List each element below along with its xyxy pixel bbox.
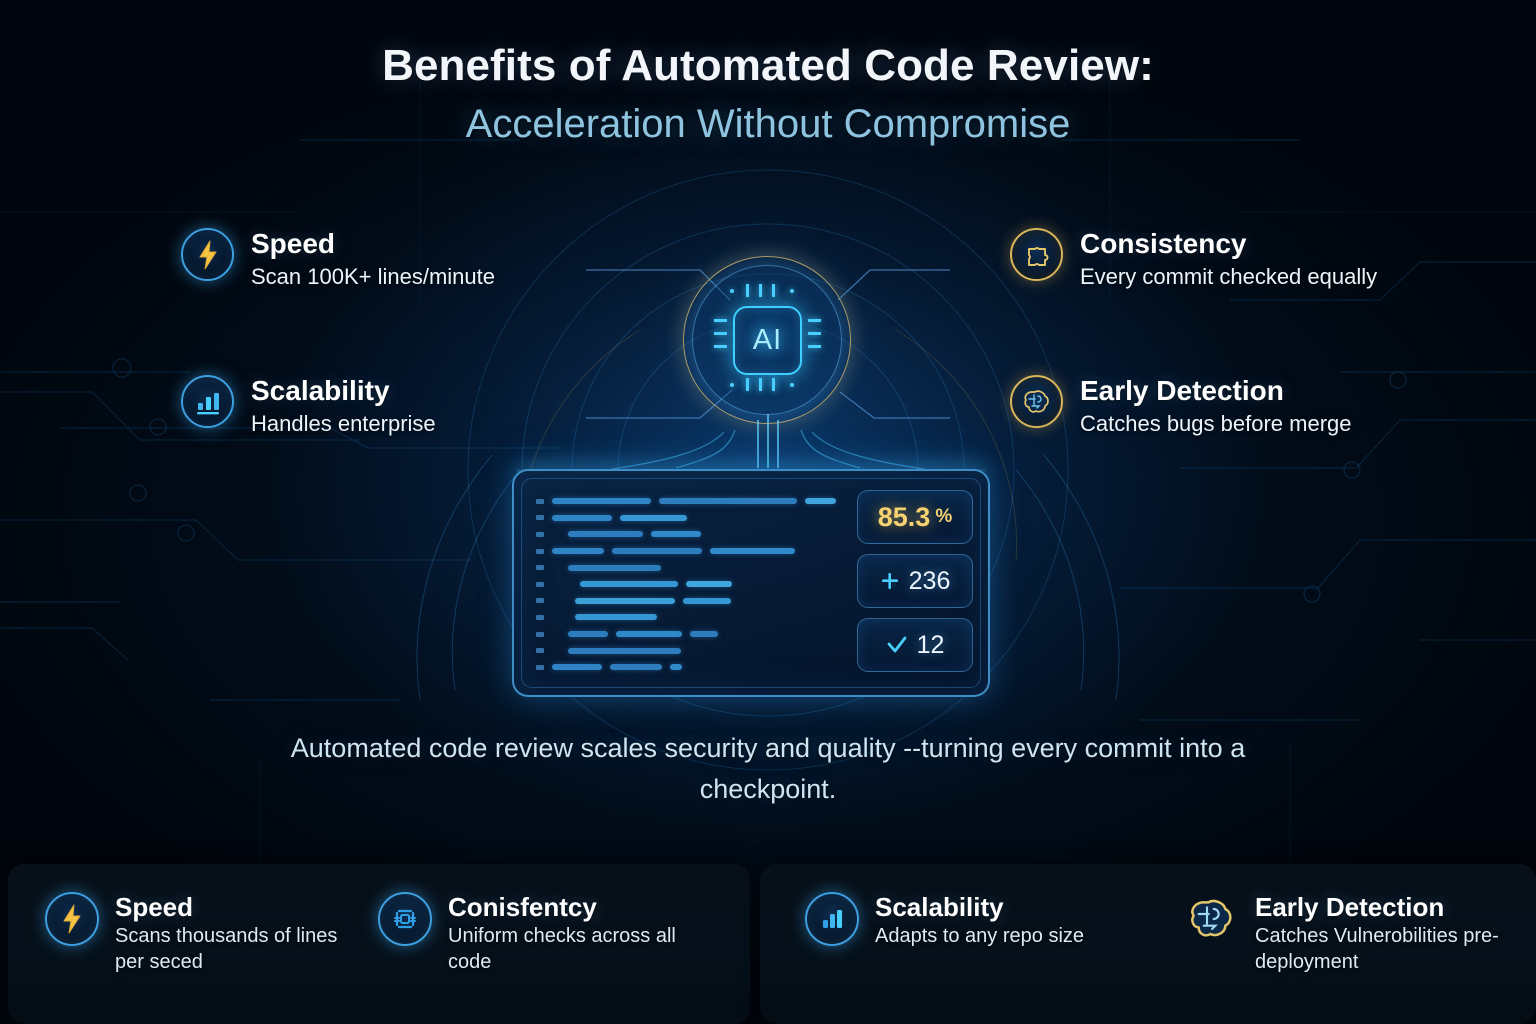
- stat-value: 85.3: [878, 502, 931, 533]
- code-gutter-mark: [536, 582, 544, 587]
- code-token-bar: [575, 614, 657, 620]
- code-token-bar: [612, 548, 702, 554]
- code-lines-area: [536, 493, 836, 676]
- code-token-bar: [568, 648, 681, 654]
- code-line-row: [536, 626, 836, 643]
- infographic-canvas: Benefits of Automated Code Review: Accel…: [0, 0, 1536, 1024]
- benefit-description: Handles enterprise: [251, 410, 436, 438]
- lightning-bolt-icon: [45, 892, 99, 946]
- chip-pin: [714, 319, 727, 322]
- code-gutter-mark: [536, 632, 544, 637]
- code-token-bar: [580, 581, 678, 587]
- chip-pin: [808, 332, 821, 335]
- benefit-heading: Speed: [251, 229, 495, 259]
- code-line-row: [536, 526, 836, 543]
- stat-badge-coverage: 85.3%: [857, 490, 973, 544]
- code-gutter-mark: [536, 549, 544, 554]
- code-line-row: [536, 493, 836, 510]
- chip-label: AI: [753, 324, 782, 357]
- code-gutter-mark: [536, 515, 544, 520]
- code-line-row: [536, 543, 836, 560]
- code-token-bar: [659, 498, 797, 504]
- page-subtitle: Acceleration Without Compromise: [0, 100, 1536, 148]
- bottom-card-consistency[interactable]: Conisfentcy Uniform checks across all co…: [378, 892, 723, 975]
- code-line-row: [536, 659, 836, 676]
- ai-chip: AI: [733, 306, 802, 375]
- code-token-bar: [710, 548, 795, 554]
- benefit-text: Scalability Handles enterprise: [251, 375, 436, 438]
- code-token-bar: [552, 548, 604, 554]
- code-line-row: [536, 510, 836, 527]
- chip-pin-dot: [790, 383, 794, 387]
- bar-chart-icon: [181, 375, 234, 428]
- benefit-item-consistency[interactable]: Consistency Every commit checked equally: [1010, 228, 1430, 291]
- header: Benefits of Automated Code Review: Accel…: [0, 40, 1536, 148]
- benefit-heading: Scalability: [251, 376, 436, 406]
- brain-icon: [1185, 892, 1239, 946]
- bottom-card-scalability[interactable]: Scalability Adapts to any repo size: [805, 892, 1095, 950]
- chip-pin: [746, 378, 749, 391]
- check-mark-icon: [886, 635, 908, 655]
- brain-icon: [1010, 375, 1063, 428]
- code-token-bar: [552, 598, 567, 604]
- bottom-card-description: Adapts to any repo size: [875, 924, 1084, 950]
- code-token-bar: [568, 565, 661, 571]
- benefit-description: Scan 100K+ lines/minute: [251, 263, 495, 291]
- benefit-text: Speed Scan 100K+ lines/minute: [251, 228, 495, 291]
- chip-pin: [746, 284, 749, 297]
- check-mark-icon: [886, 635, 908, 655]
- benefit-item-speed[interactable]: Speed Scan 100K+ lines/minute: [181, 228, 495, 291]
- bottom-card-description: Scans thousands of lines per seced: [115, 924, 345, 975]
- code-token-bar: [552, 614, 567, 620]
- code-line-row: [536, 642, 836, 659]
- stat-badges: 85.3%23612: [857, 490, 973, 682]
- code-token-bar: [568, 631, 608, 637]
- chip-pin-dot: [730, 383, 734, 387]
- stat-value: 236: [909, 567, 951, 596]
- bottom-card-text: Early Detection Catches Vulnerobilities …: [1255, 892, 1515, 975]
- code-token-bar: [575, 598, 675, 604]
- code-token-bar: [683, 598, 731, 604]
- code-token-bar: [610, 664, 662, 670]
- code-line-row: [536, 559, 836, 576]
- code-token-bar: [552, 565, 560, 571]
- code-gutter-mark: [536, 648, 544, 653]
- code-token-bar: [552, 664, 602, 670]
- stat-badge-issues: 236: [857, 554, 973, 608]
- code-token-bar: [620, 515, 687, 521]
- chip-pin: [772, 284, 775, 297]
- stat-value: 12: [917, 631, 945, 660]
- chip-pin: [714, 332, 727, 335]
- bottom-card-heading: Speed: [115, 893, 345, 921]
- code-gutter-mark: [536, 532, 544, 537]
- bottom-card-heading: Early Detection: [1255, 893, 1515, 921]
- stat-badge-passed: 12: [857, 618, 973, 672]
- chip-bracket-icon: [378, 892, 432, 946]
- bottom-summary-bar: Speed Scans thousands of lines per seced…: [0, 864, 1536, 1024]
- code-token-bar: [552, 515, 612, 521]
- page-title: Benefits of Automated Code Review:: [0, 40, 1536, 92]
- code-token-bar: [552, 648, 560, 654]
- code-token-bar: [670, 664, 682, 670]
- code-gutter-mark: [536, 665, 544, 670]
- code-review-panel: 85.3%23612: [512, 469, 990, 697]
- code-token-bar: [552, 631, 560, 637]
- chip-pin-dot: [730, 289, 734, 293]
- code-line-row: [536, 576, 836, 593]
- stat-suffix: %: [935, 506, 952, 528]
- code-token-bar: [552, 581, 572, 587]
- code-gutter-mark: [536, 615, 544, 620]
- ai-core-node: AI: [660, 233, 875, 448]
- chip-pin: [759, 284, 762, 297]
- chip-pin: [808, 345, 821, 348]
- code-gutter-mark: [536, 499, 544, 504]
- git-branch-icon: [880, 571, 900, 591]
- chip-pin: [714, 345, 727, 348]
- lightning-bolt-icon: [181, 228, 234, 281]
- chip-pin: [759, 378, 762, 391]
- bottom-card-text: Speed Scans thousands of lines per seced: [115, 892, 345, 975]
- code-token-bar: [552, 531, 560, 537]
- bottom-card-text: Conisfentcy Uniform checks across all co…: [448, 892, 723, 975]
- benefit-heading: Early Detection: [1080, 376, 1352, 406]
- bottom-card-description: Catches Vulnerobilities pre-deployment: [1255, 924, 1515, 975]
- code-line-row: [536, 609, 836, 626]
- benefit-heading: Consistency: [1080, 229, 1377, 259]
- benefit-description: Every commit checked equally: [1080, 263, 1377, 291]
- bottom-card-early-detection[interactable]: Early Detection Catches Vulnerobilities …: [1185, 892, 1515, 975]
- code-token-bar: [568, 531, 643, 537]
- code-token-bar: [686, 581, 732, 587]
- code-token-bar: [805, 498, 836, 504]
- benefit-item-early-detection[interactable]: Early Detection Catches bugs before merg…: [1010, 375, 1480, 438]
- chip-pin: [772, 378, 775, 391]
- code-token-bar: [616, 631, 682, 637]
- bar-chart-icon: [805, 892, 859, 946]
- benefit-text: Consistency Every commit checked equally: [1080, 228, 1377, 291]
- bottom-card-speed[interactable]: Speed Scans thousands of lines per seced: [45, 892, 345, 975]
- chip-pin-dot: [790, 289, 794, 293]
- benefit-description: Catches bugs before merge: [1080, 410, 1352, 438]
- code-gutter-mark: [536, 565, 544, 570]
- code-line-row: [536, 593, 836, 610]
- bottom-card-heading: Conisfentcy: [448, 893, 723, 921]
- code-token-bar: [690, 631, 718, 637]
- git-branch-icon: [880, 571, 900, 591]
- code-gutter-mark: [536, 598, 544, 603]
- code-token-bar: [651, 531, 701, 537]
- summary-caption: Automated code review scales security an…: [253, 728, 1283, 809]
- puzzle-piece-icon: [1010, 228, 1063, 281]
- chip-pin: [808, 319, 821, 322]
- benefit-item-scalability[interactable]: Scalability Handles enterprise: [181, 375, 436, 438]
- benefit-text: Early Detection Catches bugs before merg…: [1080, 375, 1352, 438]
- code-token-bar: [552, 498, 651, 504]
- bottom-card-text: Scalability Adapts to any repo size: [875, 892, 1084, 950]
- bottom-card-heading: Scalability: [875, 893, 1084, 921]
- bottom-card-description: Uniform checks across all code: [448, 924, 723, 975]
